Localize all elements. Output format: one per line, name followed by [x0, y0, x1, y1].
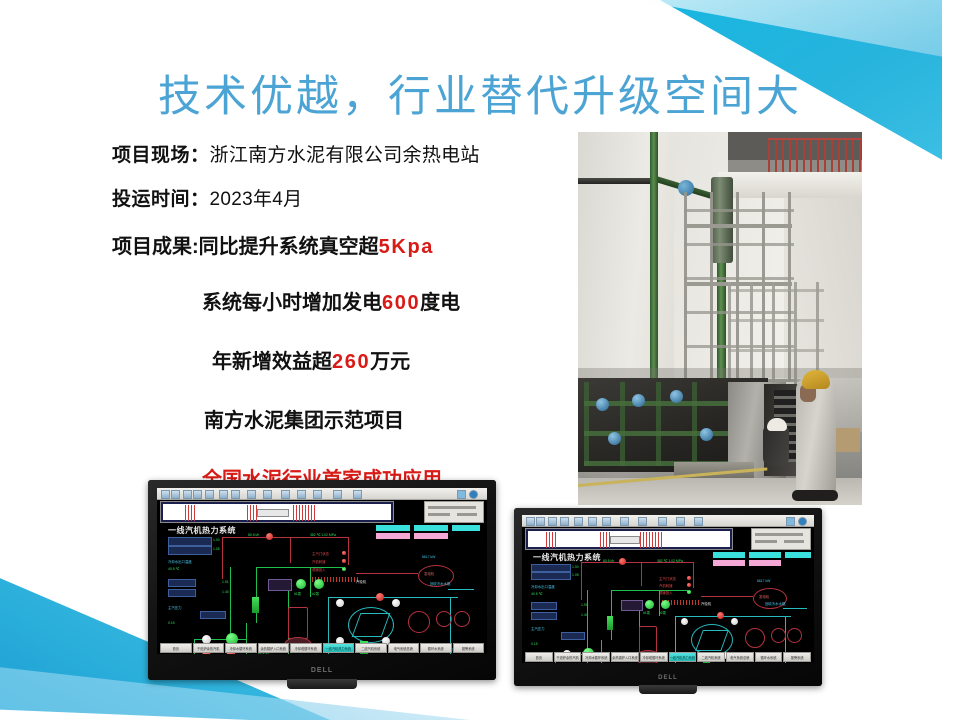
content-block: 项目现场：浙江南方水泥有限公司余热电站 投运时间：2023年4月 项目成果:同比… — [112, 140, 582, 492]
hmi-left-pump-tag-1: #1泵 — [294, 591, 301, 596]
photo-worker-standing-boots — [792, 490, 838, 501]
hmi-left-toolbar[interactable] — [157, 488, 487, 500]
hmi-right-legend-1: 主汽门状态 — [659, 576, 676, 581]
hmi-right-param-val-1: 1.00 — [572, 565, 579, 569]
alarm-strip-input[interactable] — [610, 536, 640, 544]
hmi-left-param-box-3 — [168, 579, 196, 587]
toolbar-icon-new[interactable] — [161, 490, 170, 499]
hmi-left-button-0[interactable] — [376, 525, 410, 531]
hmi-right-alarm-strip — [525, 528, 733, 550]
page-title: 技术优越，行业替代升级空间大 — [0, 62, 960, 124]
bullet-power-output-highlight: 600 — [382, 292, 420, 314]
hmi-left-flow-1: 80.5 t/h — [248, 533, 259, 537]
hmi-left-val-1: 40.5 ℃ — [168, 567, 179, 571]
hmi-left-status-panel — [424, 501, 484, 523]
hmi-right-diagram: 一线汽机热力系统 1.00 1.05 冷却水出口温度 40.5 ℃ 1.91 — [525, 550, 811, 650]
photo-valve-wheel-3 — [670, 390, 683, 403]
alarm-bar-3 — [640, 532, 662, 548]
hmi-left-button-3[interactable] — [376, 533, 410, 539]
toolbar-icon-zoom[interactable] — [658, 517, 667, 526]
toolbar-icon-open[interactable] — [536, 517, 545, 526]
toolbar-icon-cut[interactable] — [574, 517, 583, 526]
info-row-site: 项目现场：浙江南方水泥有限公司余热电站 — [112, 140, 582, 167]
alarm-strip-input[interactable] — [257, 509, 289, 517]
hmi-right-tab-7[interactable]: 电气系统总貌 — [726, 652, 754, 662]
hmi-right-valve-white-1[interactable] — [681, 618, 688, 625]
hmi-left-pipe-g6 — [310, 567, 311, 597]
toolbar-icon-logo — [798, 517, 807, 526]
hmi-left-pipe-r1 — [222, 537, 223, 579]
hmi-left-param-box-5 — [200, 611, 226, 619]
hmi-right-alarm-strip-inner — [528, 531, 730, 547]
hmi-left-param-val-1: 1.00 — [213, 538, 220, 542]
hmi-right-button-1[interactable] — [749, 552, 781, 558]
hmi-left-tab-8[interactable]: 循环水系统 — [420, 643, 452, 653]
hmi-left-button-4[interactable] — [414, 533, 448, 539]
hmi-left-group-label-1: 冷却水出口温度 — [168, 559, 192, 564]
hmi-right-tab-0[interactable]: 首页 — [525, 652, 553, 662]
toolbar-icon-copy[interactable] — [588, 517, 597, 526]
hmi-right-pump-tag-1: #1泵 — [643, 610, 650, 615]
hmi-left-valve-white-2[interactable] — [392, 599, 400, 607]
monitor-right-stand — [639, 685, 697, 694]
hmi-left-tab-2[interactable]: 冷却水循环系统 — [225, 643, 257, 653]
hmi-left-diagram: 一线汽机热力系统 1.00 1.05 冷却水出口温度 40.5 ℃ 1.91 — [160, 523, 484, 641]
hmi-left-tab-0[interactable]: 首页 — [160, 643, 192, 653]
hmi-left-legend-dot-2 — [342, 559, 346, 563]
toolbar-icon-print[interactable] — [560, 517, 569, 526]
slide-canvas: 技术优越，行业替代升级空间大 项目现场：浙江南方水泥有限公司余热电站 投运时间：… — [0, 0, 960, 720]
hmi-left-pipe-r2 — [222, 537, 348, 538]
hmi-left-aux-pump-2 — [454, 611, 470, 627]
toolbar-icon-undo[interactable] — [620, 517, 629, 526]
hmi-right-valve-red-1[interactable] — [717, 612, 724, 619]
hmi-left-valve-red-1[interactable] — [376, 593, 384, 601]
hmi-right-aux-pump-2 — [787, 628, 802, 643]
photo-valve-wheel-1 — [596, 398, 609, 411]
hmi-right-legend-dot-1 — [687, 576, 691, 580]
hmi-right-param-box-1 — [531, 564, 571, 572]
hmi-right-legend-2: 汽机转速 — [659, 583, 673, 588]
hmi-left-tab-6[interactable]: 二线汽机系统 — [355, 643, 387, 653]
bullet-annual-benefit-tail: 万元 — [370, 351, 410, 373]
hmi-right-circulation-pump — [745, 628, 765, 648]
hmi-right-pump-green-2[interactable] — [661, 600, 670, 609]
hmi-right-legend-dot-2 — [687, 583, 691, 587]
hmi-left-pipe-r5 — [356, 573, 418, 574]
hmi-right-tab-5-active[interactable]: 一线汽机热力系统 — [669, 652, 697, 662]
hmi-left-vessel-1 — [268, 579, 292, 591]
toolbar-icon-trend[interactable] — [297, 490, 306, 499]
hmi-right-pipe-r4 — [693, 562, 694, 588]
hmi-left: 一线汽机热力系统 1.00 1.05 冷却水出口温度 40.5 ℃ 1.91 — [157, 488, 487, 654]
status-line-login — [457, 513, 477, 516]
toolbar-icon-print[interactable] — [193, 490, 202, 499]
hmi-left-tab-4[interactable]: 冷却塔循环系统 — [290, 643, 322, 653]
bullet-power-output-tail: 度电 — [420, 292, 460, 314]
hmi-left-param-box-2 — [168, 546, 212, 555]
hmi-left-param-val-2: 1.05 — [213, 547, 220, 551]
info-row-site-label: 项目现场： — [112, 145, 210, 166]
toolbar-icon-help[interactable] — [353, 490, 362, 499]
photo-cardboard-box — [836, 428, 860, 452]
hmi-left-generator-label: 发电机 — [424, 571, 434, 576]
hmi-left-tab-7[interactable]: 电气系统总貌 — [388, 643, 420, 653]
hmi-left-param-box-4 — [168, 589, 196, 597]
hmi-left-pipe-r4 — [348, 537, 349, 565]
hmi-right-vessel-1 — [621, 600, 643, 611]
toolbar-icon-settings[interactable] — [333, 490, 342, 499]
plant-site-photo — [578, 132, 862, 505]
hmi-left-pump-tag-2: #2泵 — [312, 591, 319, 596]
hmi-right-pipe-r3 — [641, 562, 642, 586]
hmi-right-pipe-g4 — [611, 590, 612, 640]
photo-worker-standing-hardhat — [802, 370, 830, 389]
hmi-left-val-3: 1.40 — [222, 590, 229, 594]
bullet-power-output-text: 系统每小时增加发电 — [202, 292, 382, 314]
hmi-left-val-2: 1.91 — [222, 580, 229, 584]
hmi-right-tab-1[interactable]: 干熄炉余热汽机 — [554, 652, 582, 662]
toolbar-icon-paste[interactable] — [602, 517, 611, 526]
toolbar-icon-zoom[interactable] — [281, 490, 290, 499]
hmi-right-outlet-1 — [783, 608, 807, 609]
hmi-left-outlet-label-1: 回收冷水水箱 — [430, 581, 450, 586]
hmi-left-tabbar[interactable]: 首页 干熄炉余热汽机 冷却水循环系统 余热锅炉入口系统 冷却塔循环系统 一线汽机… — [160, 643, 484, 653]
hmi-right-tab-6[interactable]: 二线汽机系统 — [697, 652, 725, 662]
hmi-right-tabbar[interactable]: 首页 干熄炉余热汽机 冷却水循环系统 余热锅炉入口系统 冷却塔循环系统 一线汽机… — [525, 652, 811, 662]
monitor-left-brand-logo: DELL — [148, 667, 496, 674]
toolbar-icon-trend[interactable] — [676, 517, 685, 526]
hmi-left-pump-green-2[interactable] — [314, 579, 324, 589]
alarm-bar-1 — [546, 532, 556, 548]
info-row-date-label: 投运时间： — [112, 189, 210, 210]
status-line-login — [784, 540, 804, 543]
bullet-annual-benefit-text: 年新增效益超 — [212, 351, 332, 373]
hmi-right-valve-bar-1[interactable] — [607, 616, 613, 630]
monitor-right-screen: 一线汽机热力系统 1.00 1.05 冷却水出口温度 40.5 ℃ 1.91 — [522, 515, 814, 663]
status-line-datetime — [755, 533, 803, 536]
hmi-right-flow-1: 80.5 t/h — [603, 559, 614, 563]
hmi-right-tab-8[interactable]: 循环水系统 — [755, 652, 783, 662]
hmi-right-param-val-2: 1.05 — [572, 573, 579, 577]
hmi-left-screen-title: 一线汽机热力系统 — [168, 525, 236, 536]
alarm-bar-3 — [293, 505, 317, 521]
hmi-right-turbine-label: 汽轮机 — [701, 601, 711, 606]
hmi-left-legend-dot-1 — [342, 551, 346, 555]
photo-horizontal-pipe — [578, 178, 656, 184]
hmi-left-outlet-1 — [448, 589, 474, 590]
hmi-right-outlet-label-2: 循环水补水管路 — [767, 662, 791, 663]
toolbar-icon-alarm[interactable] — [694, 517, 703, 526]
hmi-right-pipe-g3 — [611, 590, 689, 591]
hmi-right-val-4: 0.15 — [531, 642, 538, 646]
hmi-left-valve-bar-1[interactable] — [252, 597, 259, 613]
hmi-right-tab-2[interactable]: 冷却水循环系统 — [582, 652, 610, 662]
status-line-user — [755, 540, 777, 543]
hmi-left-legend-2: 汽机转速 — [312, 559, 326, 564]
hmi-left-alarm-strip-inner — [163, 504, 391, 520]
status-line-datetime — [428, 506, 476, 509]
hmi-left-pipe-g4 — [256, 567, 257, 623]
hmi-left-button-2[interactable] — [452, 525, 480, 531]
monitor-left-screen: 一线汽机热力系统 1.00 1.05 冷却水出口温度 40.5 ℃ 1.91 — [157, 488, 487, 654]
hmi-left-button-1[interactable] — [414, 525, 448, 531]
hmi-right-button-0[interactable] — [713, 552, 745, 558]
photo-upper-railing — [768, 138, 862, 176]
photo-valve-wheel-4 — [608, 432, 621, 445]
hmi-right: 一线汽机热力系统 1.00 1.05 冷却水出口温度 40.5 ℃ 1.91 — [522, 515, 814, 663]
hmi-right-param-box-3 — [531, 602, 557, 610]
toolbar-icon-alarm[interactable] — [313, 490, 322, 499]
hmi-left-condenser — [288, 607, 308, 639]
hmi-right-aux-pump-1 — [771, 628, 786, 643]
hmi-right-tab-3[interactable]: 余热锅炉入口系统 — [611, 652, 639, 662]
info-row-date-value: 2023年4月 — [210, 189, 303, 210]
toolbar-icon-save[interactable] — [548, 517, 557, 526]
bullet-demo-project: 南方水泥集团示范项目 — [112, 404, 582, 433]
hmi-right-toolbar[interactable] — [522, 515, 814, 527]
scada-monitor-right: DELL — [514, 508, 822, 686]
monitor-left-stand — [287, 679, 357, 689]
toolbar-icon-paste[interactable] — [231, 490, 240, 499]
photo-platform-deck-1 — [684, 224, 792, 228]
toolbar-icon-logo — [469, 490, 478, 499]
hmi-right-button-3[interactable] — [713, 560, 745, 566]
monitor-right-brand-logo: DELL — [514, 675, 822, 681]
hmi-left-pipe-c1 — [328, 597, 458, 598]
hmi-right-group-label-1: 冷却水出口温度 — [531, 584, 555, 589]
hmi-left-tab-1[interactable]: 干熄炉余热汽机 — [193, 643, 225, 653]
alarm-bar-1 — [185, 505, 195, 521]
scada-monitor-left: DELL — [148, 480, 496, 680]
hmi-left-pipe-r3 — [290, 537, 291, 563]
toolbar-icon-save[interactable] — [183, 490, 192, 499]
hmi-right-generator-label: 发电机 — [759, 594, 769, 599]
hmi-left-legend-1: 主汽门状态 — [312, 551, 329, 556]
hmi-left-group-label-2: 主汽压力 — [168, 605, 182, 610]
corner-decoration-bottom-left-notch — [0, 694, 250, 720]
toolbar-icon-redo[interactable] — [263, 490, 272, 499]
hmi-left-aux-pump-1 — [436, 611, 452, 627]
hmi-left-indicator-red-1 — [266, 533, 273, 540]
info-row-result-label: 项目成果: — [112, 236, 199, 258]
hmi-left-val-4: 0.15 — [168, 621, 175, 625]
hmi-left-circulation-pump — [408, 611, 430, 633]
bullet-annual-benefit-highlight: 260 — [332, 351, 370, 373]
info-row-result-text: 同比提升系统真空超 — [199, 236, 379, 258]
status-line-user — [428, 513, 450, 516]
hmi-left-pump-green-1[interactable] — [296, 579, 306, 589]
info-row-result-highlight: 5Kpa — [379, 236, 434, 258]
hmi-left-gen-power: 8617 kW — [422, 555, 435, 559]
hmi-right-pipe-r5 — [701, 596, 753, 597]
hmi-right-val-1: 40.5 ℃ — [531, 592, 542, 596]
toolbar-icon-redo[interactable] — [638, 517, 647, 526]
toolbar-icon-window[interactable] — [457, 490, 466, 499]
hmi-left-tab-9[interactable]: 报警系统 — [453, 643, 485, 653]
hmi-right-pipe-c1 — [675, 616, 791, 617]
hmi-right-tab-4[interactable]: 冷却塔循环系统 — [640, 652, 668, 662]
info-row-site-value: 浙江南方水泥有限公司余热电站 — [210, 145, 480, 166]
photo-valve-wheel-2 — [632, 394, 645, 407]
hmi-right-group-label-2: 主汽压力 — [531, 626, 545, 631]
hmi-right-pump-tag-2: #2泵 — [659, 610, 666, 615]
photo-worker-squatting-helmet — [767, 418, 787, 431]
alarm-bar-2 — [247, 505, 257, 521]
hmi-right-gen-power: 8617 kW — [757, 579, 770, 583]
toolbar-icon-window[interactable] — [786, 517, 795, 526]
hmi-right-flow-2: 382 ℃ 1.02 MPa — [657, 559, 683, 563]
hmi-right-button-4[interactable] — [749, 560, 781, 566]
toolbar-icon-copy[interactable] — [219, 490, 228, 499]
alarm-bar-2 — [600, 532, 610, 548]
hmi-left-tab-5-active[interactable]: 一线汽机热力系统 — [323, 643, 355, 653]
toolbar-icon-cut[interactable] — [205, 490, 214, 499]
toolbar-icon-open[interactable] — [171, 490, 180, 499]
photo-pump-piping-manifold — [584, 382, 744, 466]
toolbar-icon-undo[interactable] — [247, 490, 256, 499]
hmi-right-pump-green-1[interactable] — [645, 600, 654, 609]
bullet-annual-benefit: 年新增效益超260万元 — [112, 345, 582, 374]
hmi-right-pipe-r1 — [581, 562, 582, 600]
hmi-right-param-box-5 — [561, 632, 585, 640]
hmi-right-status-panel — [751, 528, 811, 550]
hmi-left-pipe-g3 — [256, 567, 344, 568]
hmi-right-param-box-4 — [531, 612, 557, 620]
hmi-left-tab-3[interactable]: 余热锅炉入口系统 — [258, 643, 290, 653]
hmi-left-turbine-label: 汽轮机 — [356, 579, 366, 584]
hmi-right-indicator-red-1 — [619, 558, 626, 565]
info-row-date: 投运时间：2023年4月 — [112, 184, 582, 211]
hmi-right-button-2[interactable] — [785, 552, 811, 558]
hmi-left-valve-white-1[interactable] — [336, 599, 344, 607]
hmi-right-valve-white-2[interactable] — [731, 618, 738, 625]
hmi-right-outlet-label-1: 回收冷水水箱 — [765, 601, 785, 606]
hmi-right-param-box-2 — [531, 572, 571, 580]
info-row-result: 项目成果:同比提升系统真空超5Kpa — [112, 230, 582, 259]
photo-valve-wheel-5 — [700, 428, 713, 441]
hmi-left-param-box-1 — [168, 537, 212, 546]
hmi-left-flow-2: 382 ℃ 1.02 MPa — [310, 533, 336, 537]
hmi-left-alarm-strip — [160, 501, 394, 523]
bullet-power-output: 系统每小时增加发电600度电 — [112, 286, 582, 315]
toolbar-icon-new[interactable] — [526, 517, 535, 526]
hmi-right-tab-9[interactable]: 报警系统 — [783, 652, 811, 662]
